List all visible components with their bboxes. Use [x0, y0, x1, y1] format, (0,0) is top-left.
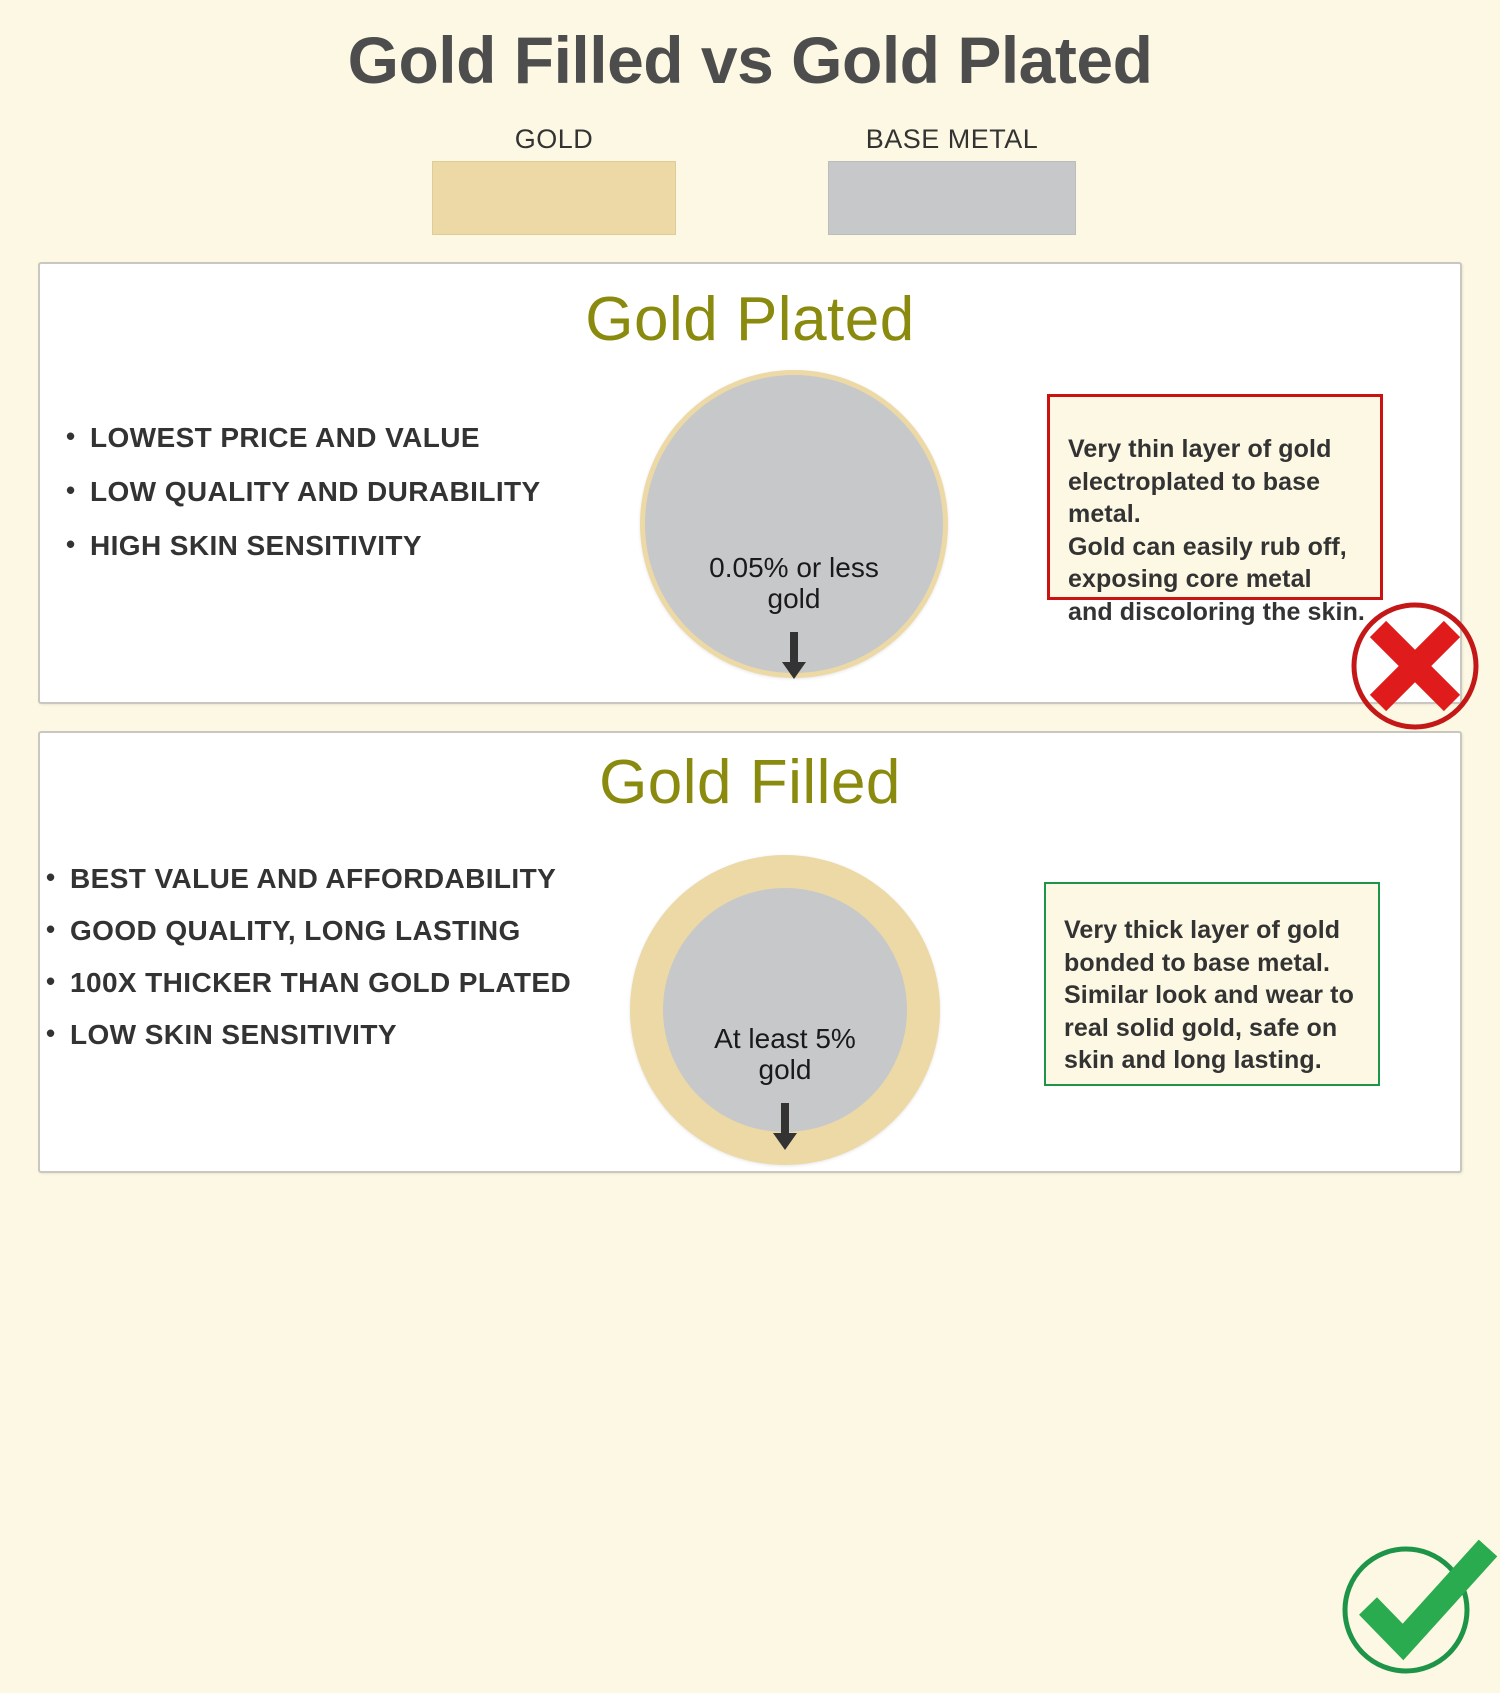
- feature-list-gold-plated: LOWEST PRICE AND VALUE LOW QUALITY AND D…: [66, 422, 541, 584]
- section-heading-gold-filled: Gold Filled: [40, 747, 1460, 818]
- diagram-caption-plated: 0.05% or less gold: [640, 552, 948, 615]
- down-arrow-icon: [768, 1103, 802, 1156]
- list-item: 100X THICKER THAN GOLD PLATED: [46, 967, 571, 999]
- callout-gold-filled: Very thick layer of gold bonded to base …: [1044, 882, 1380, 1086]
- list-item: HIGH SKIN SENSITIVITY: [66, 530, 541, 562]
- list-item: BEST VALUE AND AFFORDABILITY: [46, 863, 571, 895]
- feature-list-gold-filled: BEST VALUE AND AFFORDABILITY GOOD QUALIT…: [46, 863, 571, 1071]
- check-icon: [1338, 1538, 1498, 1688]
- diagram-gold-layer-plated: 0.05% or less gold: [640, 370, 948, 678]
- list-item: GOOD QUALITY, LONG LASTING: [46, 915, 571, 947]
- list-item: LOW QUALITY AND DURABILITY: [66, 476, 541, 508]
- diagram-base-metal-core-filled: [663, 888, 907, 1132]
- list-item: LOW SKIN SENSITIVITY: [46, 1019, 571, 1051]
- section-panel-gold-filled: Gold Filled BEST VALUE AND AFFORDABILITY…: [38, 731, 1462, 1173]
- diagram-caption-filled: At least 5% gold: [630, 1023, 940, 1086]
- legend-label-gold: GOLD: [432, 124, 676, 155]
- cross-icon: [1345, 596, 1485, 736]
- down-arrow-icon: [777, 632, 811, 685]
- diagram-gold-layer-filled: At least 5% gold: [630, 855, 940, 1165]
- list-item: LOWEST PRICE AND VALUE: [66, 422, 541, 454]
- legend-label-base-metal: BASE METAL: [828, 124, 1076, 155]
- callout-text: Very thin layer of gold electroplated to…: [1068, 433, 1366, 628]
- page-title: Gold Filled vs Gold Plated: [0, 22, 1500, 98]
- callout-text: Very thick layer of gold bonded to base …: [1064, 914, 1364, 1077]
- infographic-canvas: Gold Filled vs Gold Plated GOLD BASE MET…: [0, 0, 1500, 1204]
- section-panel-gold-plated: Gold Plated LOWEST PRICE AND VALUE LOW Q…: [38, 262, 1462, 704]
- legend-swatch-gold: [432, 161, 676, 235]
- callout-gold-plated: Very thin layer of gold electroplated to…: [1047, 394, 1383, 600]
- section-heading-gold-plated: Gold Plated: [40, 284, 1460, 355]
- legend-swatch-base-metal: [828, 161, 1076, 235]
- diagram-base-metal-core-plated: [645, 375, 943, 673]
